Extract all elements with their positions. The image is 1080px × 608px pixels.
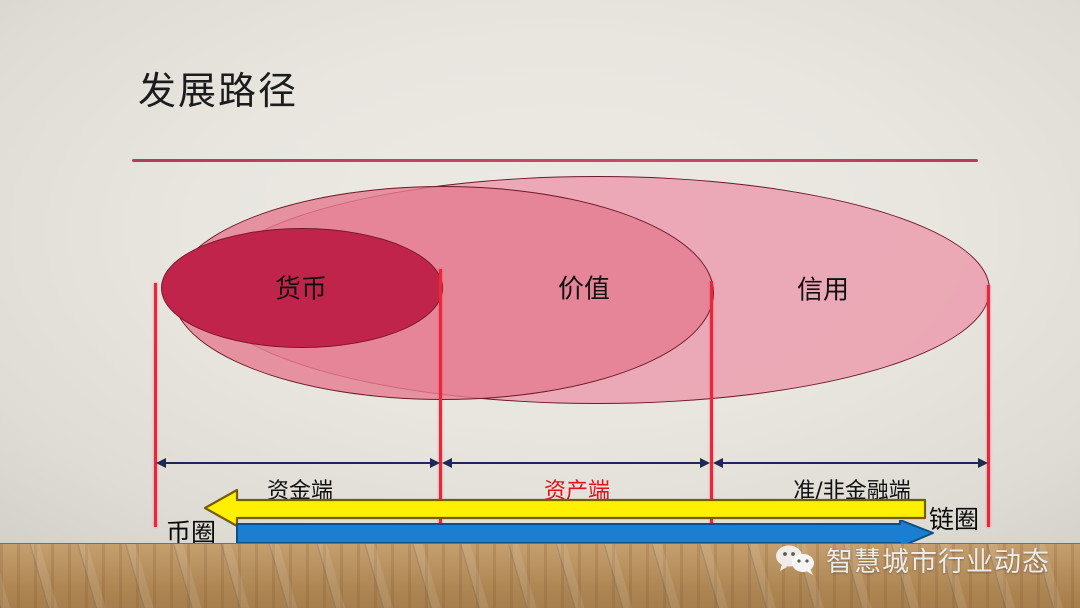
label-chain-circle: 链圈 xyxy=(929,500,979,536)
measure-arrow-1 xyxy=(156,456,440,470)
ellipse-label-credit: 信用 xyxy=(797,270,849,307)
watermark: 智慧城市行业动态 xyxy=(775,540,1050,579)
ellipse-label-currency: 货币 xyxy=(275,269,327,306)
arrow-head-right-icon xyxy=(700,458,710,468)
ellipse-label-value: 价值 xyxy=(558,269,610,306)
wechat-icon xyxy=(775,544,817,576)
arrow-head-right-icon xyxy=(430,458,440,468)
measure-arrow-2 xyxy=(442,456,710,470)
page-title: 发展路径 xyxy=(138,60,298,115)
title-divider xyxy=(132,159,978,162)
slide-canvas: 发展路径 货币 价值 信用 资金端 资产端 准/非金融端 xyxy=(0,0,1080,608)
measure-bar xyxy=(163,462,433,464)
arrow-head-right-icon xyxy=(978,458,988,468)
measure-bar xyxy=(720,462,981,464)
guide-line-1 xyxy=(154,283,157,527)
measure-arrow-3 xyxy=(713,456,988,470)
measure-bar xyxy=(449,462,703,464)
guide-line-4 xyxy=(987,285,990,527)
watermark-text: 智慧城市行业动态 xyxy=(826,540,1050,579)
